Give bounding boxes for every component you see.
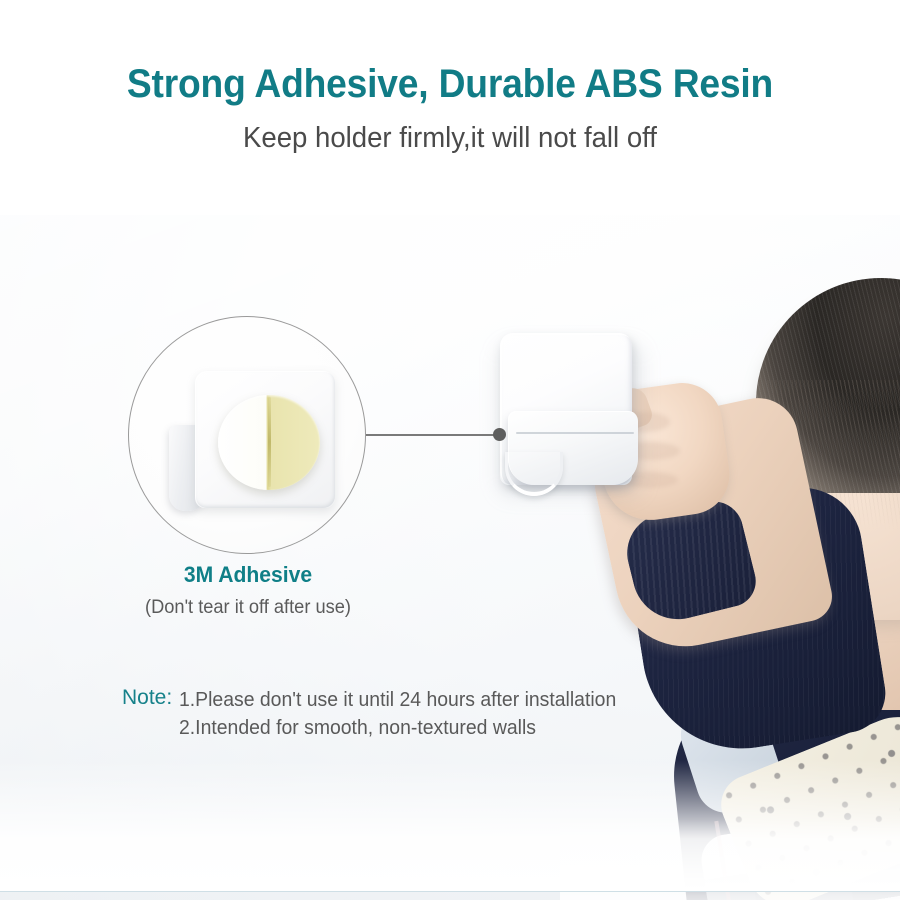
note-line-2: 2.Intended for smooth, non-textured wall… xyxy=(179,714,616,742)
callout-leader-line xyxy=(366,434,496,436)
adhesive-caption-note: (Don't tear it off after use) xyxy=(104,597,392,619)
note-line-list: 1.Please don't use it until 24 hours aft… xyxy=(179,686,630,742)
adhesive-pad-seam xyxy=(268,397,271,487)
bottom-white-fade xyxy=(0,760,900,891)
note-label: Note: xyxy=(122,686,172,710)
page-subtitle: Keep holder firmly,it will not fall off xyxy=(23,122,878,155)
magnifier-callout-circle xyxy=(128,316,366,554)
header-white-band xyxy=(0,0,900,215)
wall-hook-groove xyxy=(516,432,634,434)
note-line-1: 1.Please don't use it until 24 hours aft… xyxy=(179,686,616,714)
adhesive-caption-title: 3M Adhesive xyxy=(133,562,363,588)
callout-anchor-dot xyxy=(493,428,506,441)
bottom-divider xyxy=(0,891,900,892)
product-feature-banner: Strong Adhesive, Durable ABS Resin Keep … xyxy=(0,0,900,900)
page-title: Strong Adhesive, Durable ABS Resin xyxy=(32,62,869,107)
note-block: Note: 1.Please don't use it until 24 hou… xyxy=(122,686,682,742)
